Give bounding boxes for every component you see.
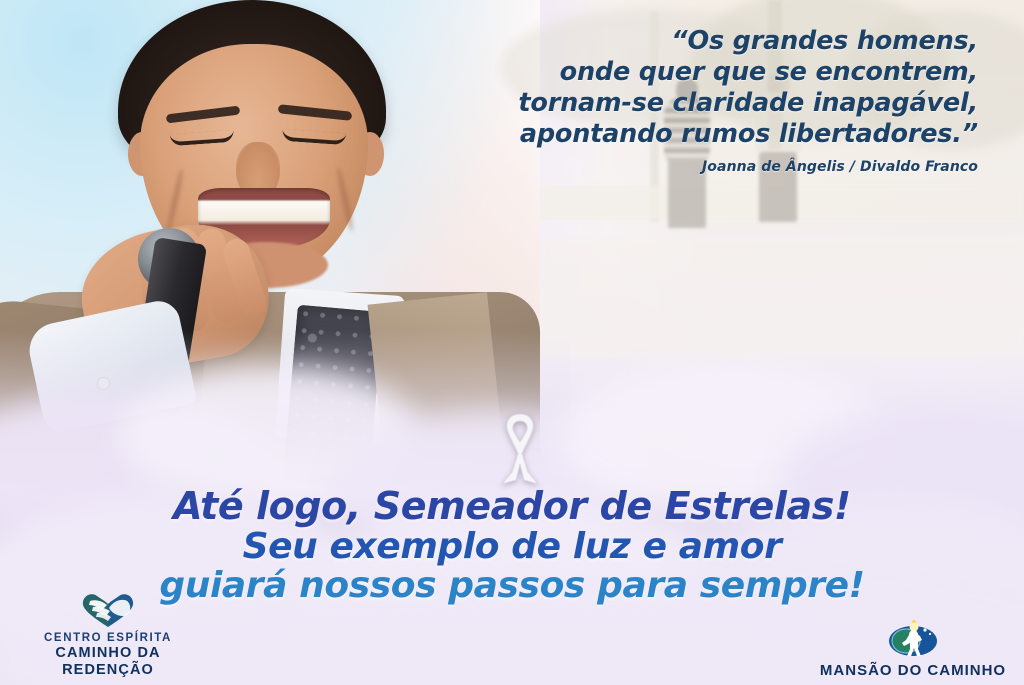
logo-mansao-do-caminho: MANSÃO DO CAMINHO	[808, 618, 1018, 679]
quote-line-3: tornam-se claridade inapagável,	[438, 88, 978, 119]
mourning-ribbon-icon	[492, 410, 548, 488]
headline-line-2: Seu exemplo de luz e amor	[0, 527, 1024, 566]
logo-left-line-1: CENTRO ESPÍRITA	[8, 632, 208, 645]
memorial-poster: “Os grandes homens, onde quer que se enc…	[0, 0, 1024, 685]
logo-left-line-2: CAMINHO DA REDENÇÃO	[8, 645, 208, 679]
logo-right-line-1: MANSÃO DO CAMINHO	[808, 662, 1018, 679]
quote-line-4: apontando rumos libertadores.”	[438, 119, 978, 150]
logo-centro-espirita: CENTRO ESPÍRITA CAMINHO DA REDENÇÃO	[8, 592, 208, 679]
headline-block: Até logo, Semeador de Estrelas! Seu exem…	[0, 486, 1024, 605]
globe-figure-icon	[886, 618, 940, 658]
quote-line-2: onde quer que se encontrem,	[438, 57, 978, 88]
quote-line-1: “Os grandes homens,	[438, 26, 978, 57]
portrait-cloud-fade	[0, 330, 570, 500]
quote-block: “Os grandes homens, onde quer que se enc…	[438, 26, 978, 175]
heart-hands-icon	[80, 592, 136, 628]
quote-attribution: Joanna de Ângelis / Divaldo Franco	[438, 159, 978, 175]
headline-line-1: Até logo, Semeador de Estrelas!	[0, 486, 1024, 527]
